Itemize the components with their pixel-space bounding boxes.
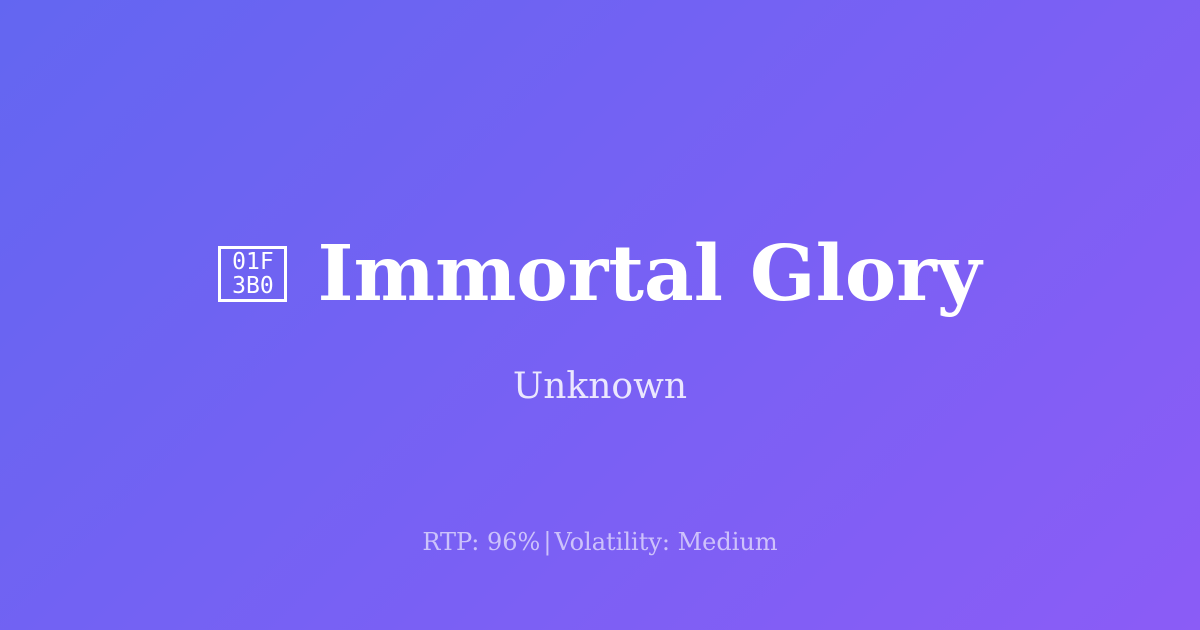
slot-machine-icon: 01F 3B0 <box>218 246 287 302</box>
game-provider-subtitle: Unknown <box>0 364 1200 410</box>
slot-machine-icon-codepoint-lo: 3B0 <box>232 274 274 298</box>
title-row: 01F 3B0 Immortal Glory <box>0 231 1200 317</box>
game-meta-line: RTP: 96%|Volatility: Medium <box>0 526 1200 558</box>
rtp-value: RTP: 96% <box>422 528 540 556</box>
page-title: Immortal Glory <box>317 231 981 317</box>
slot-machine-icon-codepoint-hi: 01F <box>232 250 274 274</box>
volatility-value: Volatility: Medium <box>554 528 777 556</box>
og-preview-card: 01F 3B0 Immortal Glory Unknown RTP: 96%|… <box>0 0 1200 630</box>
meta-separator: | <box>540 528 554 556</box>
